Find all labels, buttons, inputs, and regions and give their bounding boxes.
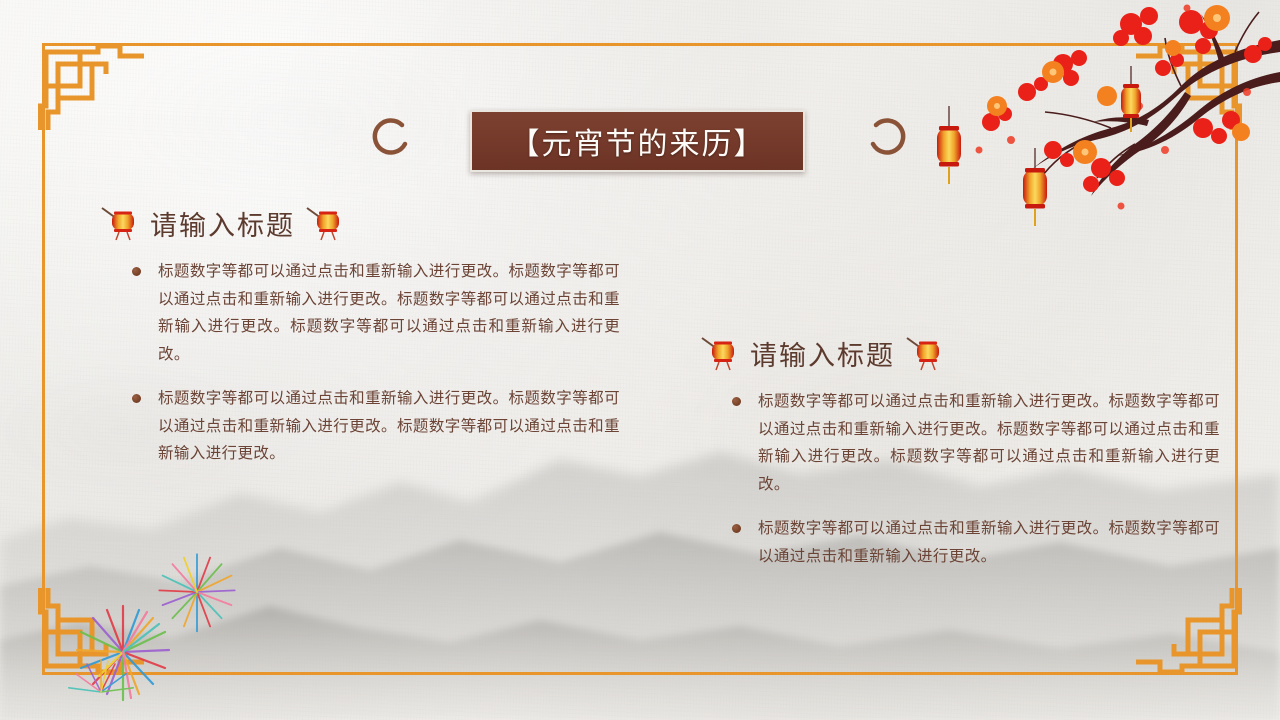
column-heading-left: 请输入标题: [100, 200, 620, 246]
content-column-left: 请输入标题 标题数字等都可以通过点击和重新输入进行更改。标题数字等都可以通过点击…: [100, 200, 620, 485]
list-item: 标题数字等都可以通过点击和重新输入进行更改。标题数字等都可以通过点击和重新输入进…: [158, 258, 620, 368]
lantern-icon: [305, 204, 345, 242]
bullet-list-right: 标题数字等都可以通过点击和重新输入进行更改。标题数字等都可以通过点击和重新输入进…: [700, 388, 1220, 570]
plum-blossom-branch: [935, 0, 1280, 235]
slide-canvas: 【元宵节的来历】 请输入标题 标题数字等都可以通过点击: [0, 0, 1280, 720]
lantern-icon: [905, 334, 945, 372]
page-title: 【元宵节的来历】: [510, 119, 766, 163]
lantern-icon: [100, 204, 140, 242]
slide-title-banner: 【元宵节的来历】: [470, 110, 805, 172]
column-heading-text: 请输入标题: [150, 204, 295, 243]
column-heading-right: 请输入标题: [700, 330, 1220, 376]
bullet-list-left: 标题数字等都可以通过点击和重新输入进行更改。标题数字等都可以通过点击和重新输入进…: [100, 258, 620, 468]
list-item: 标题数字等都可以通过点击和重新输入进行更改。标题数字等都可以通过点击和重新输入进…: [758, 515, 1220, 570]
ring-decoration-right: [866, 118, 906, 158]
column-heading-text: 请输入标题: [750, 334, 895, 373]
lantern-icon: [700, 334, 740, 372]
ring-decoration-left: [372, 118, 412, 158]
fireworks-decoration: [45, 540, 265, 710]
list-item: 标题数字等都可以通过点击和重新输入进行更改。标题数字等都可以通过点击和重新输入进…: [758, 388, 1220, 498]
corner-ornament-bottom-right: [1134, 588, 1242, 680]
content-column-right: 请输入标题 标题数字等都可以通过点击和重新输入进行更改。标题数字等都可以通过点击…: [700, 330, 1220, 587]
corner-ornament-top-left: [38, 38, 146, 130]
list-item: 标题数字等都可以通过点击和重新输入进行更改。标题数字等都可以通过点击和重新输入进…: [158, 385, 620, 468]
